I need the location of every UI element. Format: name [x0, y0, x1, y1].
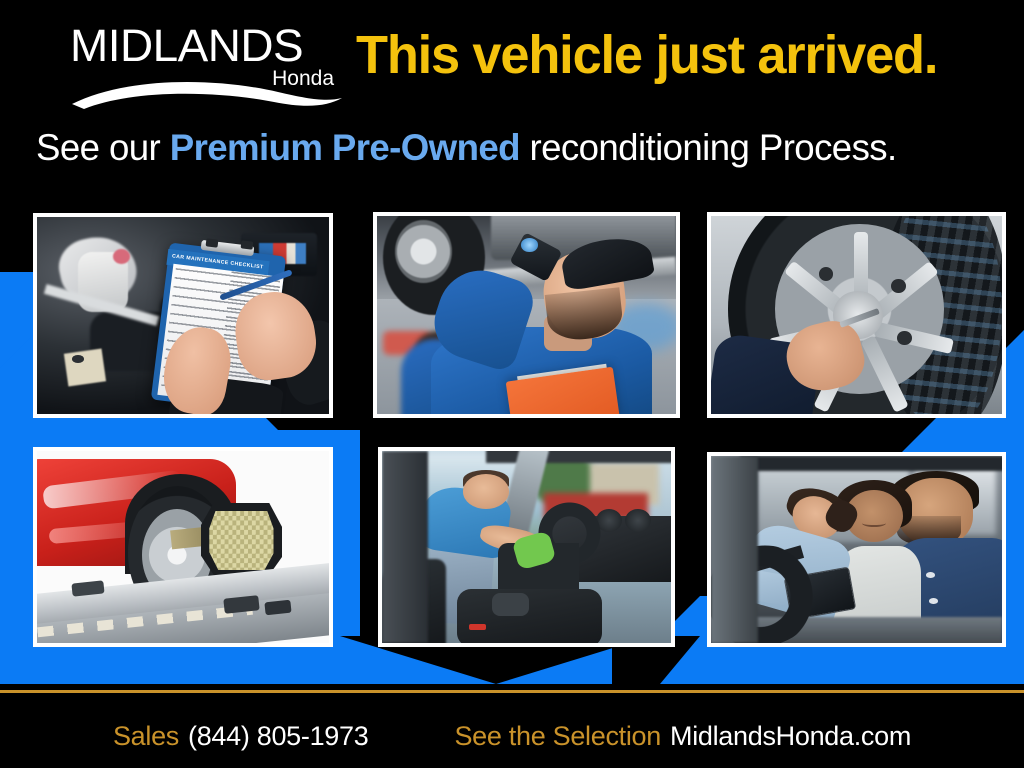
subheadline-lead: See our — [36, 127, 160, 168]
footer-contact-row: Sales(844) 805-1973See the SelectionMidl… — [0, 720, 1024, 752]
footer: Sales(844) 805-1973See the SelectionMidl… — [0, 694, 1024, 768]
footer-top-rule — [0, 690, 1024, 693]
page-title: This vehiclejust arrived. — [356, 24, 937, 86]
photo-undercarriage-inspection — [373, 212, 680, 418]
subheadline-accent: Premium Pre-Owned — [170, 127, 520, 168]
photo-wheel-service — [707, 212, 1006, 418]
header: MIDLANDS Honda This vehiclejust arrived.… — [0, 0, 1024, 190]
subheadline-tail: reconditioning Process. — [530, 127, 897, 168]
logo-swoosh-icon — [68, 70, 346, 110]
headline-part-2: just arrived. — [655, 25, 937, 85]
photo-wheel-alignment — [33, 447, 333, 647]
photo-inspection-checklist: CAR MAINTENANCE CHECKLIST — [33, 213, 333, 418]
logo-wordmark: MIDLANDS — [70, 22, 347, 70]
subheadline: See our Premium Pre-Owned reconditioning… — [36, 126, 897, 170]
see-the-selection-label: See the Selection — [454, 721, 661, 751]
website-link[interactable]: MidlandsHonda.com — [670, 721, 911, 751]
promotional-advertisement: MIDLANDS Honda This vehiclejust arrived.… — [0, 0, 1024, 768]
photo-interior-detailing — [378, 447, 675, 647]
headline-part-1: This vehicle — [356, 25, 642, 85]
sales-label: Sales — [113, 721, 179, 751]
sales-phone-number[interactable]: (844) 805-1973 — [188, 721, 368, 751]
dealer-logo[interactable]: MIDLANDS Honda — [70, 22, 342, 98]
photo-customer-delivery — [707, 452, 1006, 647]
